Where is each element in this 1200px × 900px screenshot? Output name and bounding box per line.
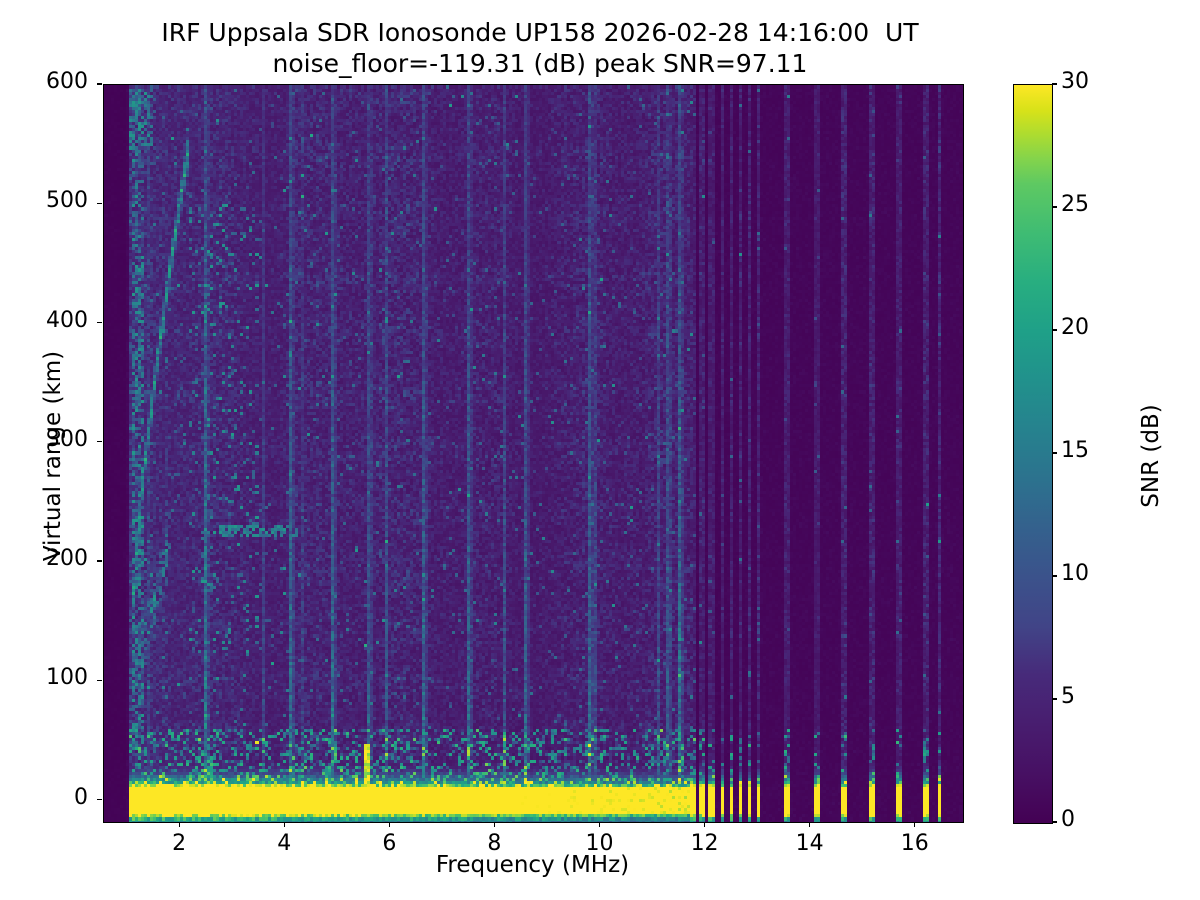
colorbar-tick-label: 30 [1061, 69, 1121, 94]
x-tick-mark [389, 822, 390, 827]
x-tick-mark [809, 822, 810, 827]
y-tick-label: 600 [8, 69, 88, 94]
x-tick-mark [914, 822, 915, 827]
colorbar-tick-mark [1052, 698, 1057, 699]
y-tick-mark [97, 799, 102, 800]
colorbar-tick-label: 0 [1061, 807, 1121, 832]
colorbar-tick-mark [1052, 452, 1057, 453]
ionogram-axes [103, 84, 964, 823]
y-tick-label: 100 [8, 665, 88, 690]
colorbar-tick-mark [1052, 206, 1057, 207]
colorbar-tick-label: 15 [1061, 438, 1121, 463]
title-line-2: noise_floor=-119.31 (dB) peak SNR=97.11 [0, 49, 1080, 80]
x-tick-mark [599, 822, 600, 827]
ionogram-heatmap [104, 85, 963, 822]
colorbar-tick-label: 25 [1061, 192, 1121, 217]
colorbar-tick-mark [1052, 821, 1057, 822]
y-tick-mark [97, 560, 102, 561]
x-axis-label: Frequency (MHz) [103, 852, 962, 878]
y-tick-mark [97, 83, 102, 84]
figure-title: IRF Uppsala SDR Ionosonde UP158 2026-02-… [0, 18, 1080, 79]
y-tick-mark [97, 680, 102, 681]
title-line-1: IRF Uppsala SDR Ionosonde UP158 2026-02-… [0, 18, 1080, 49]
colorbar-label: SNR (dB) [1138, 326, 1164, 586]
y-tick-label: 0 [8, 785, 88, 810]
y-tick-label: 500 [8, 188, 88, 213]
x-tick-mark [284, 822, 285, 827]
y-axis-label: Virtual range (km) [40, 326, 66, 586]
y-tick-mark [97, 441, 102, 442]
x-tick-mark [179, 822, 180, 827]
colorbar-tick-mark [1052, 329, 1057, 330]
x-tick-mark [494, 822, 495, 827]
y-tick-mark [97, 203, 102, 204]
colorbar-tick-mark [1052, 575, 1057, 576]
x-tick-mark [704, 822, 705, 827]
colorbar-tick-label: 5 [1061, 684, 1121, 709]
ionogram-figure: IRF Uppsala SDR Ionosonde UP158 2026-02-… [0, 0, 1200, 900]
colorbar-tick-label: 10 [1061, 561, 1121, 586]
colorbar-tick-label: 20 [1061, 315, 1121, 340]
colorbar-tick-mark [1052, 83, 1057, 84]
snr-colorbar [1013, 84, 1053, 824]
y-tick-mark [97, 322, 102, 323]
